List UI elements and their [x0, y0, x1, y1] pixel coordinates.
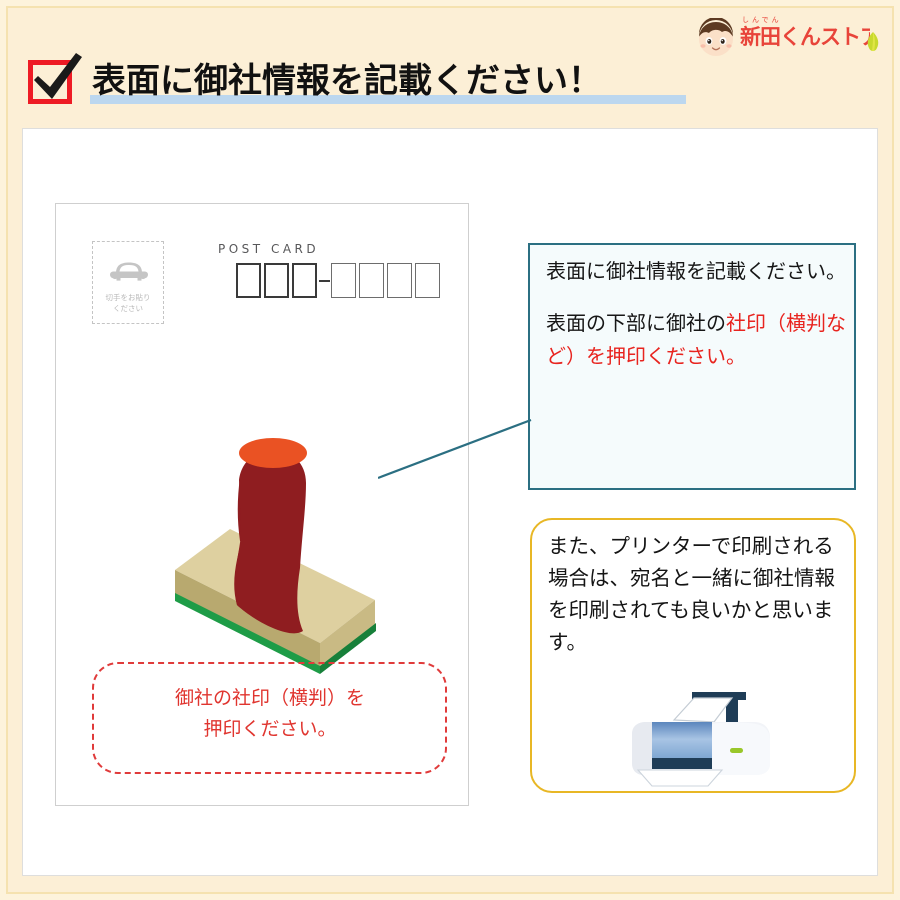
stamp-label-line1: 切手をお貼り — [94, 292, 162, 303]
zip-box — [264, 263, 289, 298]
callout-teal-spacer — [546, 288, 846, 307]
callout-teal-paragraph1: 表面に御社情報を記載ください。 — [546, 259, 846, 283]
rubber-stamp-icon — [120, 425, 390, 685]
company-seal-note-line2: 押印ください。 — [96, 714, 444, 745]
page-root: しんでん 新田くんストア 表面に御社情報を記載ください！ 切手をお貼り ください… — [0, 0, 900, 900]
stamp-label-line2: ください — [94, 303, 162, 314]
company-seal-note-text: 御社の社印（横判）を 押印ください。 — [96, 683, 444, 745]
company-seal-note-line1: 御社の社印（横判）を — [96, 683, 444, 714]
postal-code-boxes — [236, 263, 443, 298]
zip-box — [331, 263, 356, 298]
callout-teal-paragraph2-black: 表面の下部に御社の — [546, 311, 726, 335]
callout-gold-content: また、プリンターで印刷される場合は、宛名と一緒に御社情報を印刷されても良いかと思… — [548, 530, 844, 658]
checkbox-frame[interactable] — [28, 60, 72, 104]
logo-text: 新田くんストア — [740, 20, 870, 56]
zip-box — [359, 263, 384, 298]
zip-box — [415, 263, 440, 298]
callout-teal-content: 表面に御社情報を記載ください。 表面の下部に御社の社印（横判など）を押印ください… — [546, 255, 846, 373]
zip-box — [387, 263, 412, 298]
store-logo[interactable]: しんでん 新田くんストア — [690, 14, 886, 60]
post-card-label: POST CARD — [218, 242, 319, 256]
car-icon — [108, 256, 150, 286]
zip-box — [292, 263, 317, 298]
page-title: 表面に御社情報を記載ください！ — [92, 58, 692, 104]
zip-separator — [319, 280, 330, 282]
printer-icon — [622, 690, 787, 790]
boy-face-icon — [696, 18, 736, 58]
stamp-placement-label: 切手をお貼り ください — [94, 292, 162, 314]
zip-box — [236, 263, 261, 298]
page-title-text: 表面に御社情報を記載ください！ — [92, 61, 602, 101]
leaf-icon — [866, 32, 880, 52]
